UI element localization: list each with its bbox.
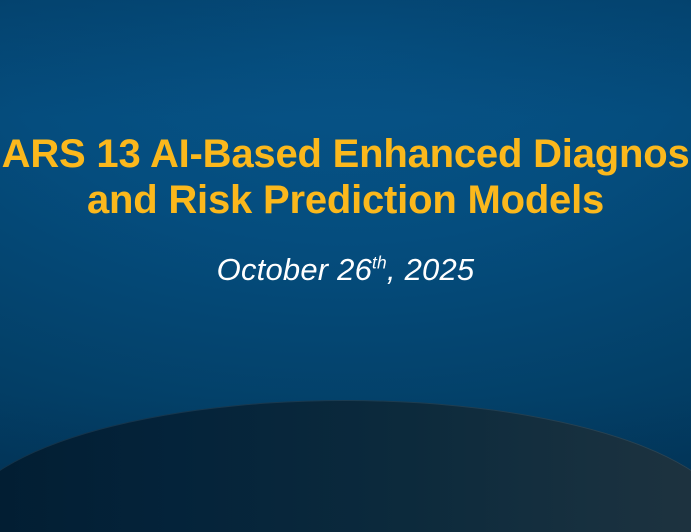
slide-date-ordinal-suffix: th bbox=[372, 253, 387, 273]
slide-date-month-day: October 26 bbox=[217, 252, 372, 287]
slide-title-line-1: MARS 13 AI-Based Enhanced Diagnosis bbox=[0, 132, 691, 176]
slide-title: MARS 13 AI-Based Enhanced Diagnosis and … bbox=[0, 131, 691, 223]
slide-date-separator: , bbox=[387, 252, 405, 287]
slide-title-line-2: and Risk Prediction Models bbox=[87, 178, 604, 222]
slide-date: October 26th, 2025 bbox=[0, 251, 691, 289]
slide-date-year: 2025 bbox=[405, 252, 475, 287]
title-slide: MARS 13 AI-Based Enhanced Diagnosis and … bbox=[0, 0, 691, 532]
